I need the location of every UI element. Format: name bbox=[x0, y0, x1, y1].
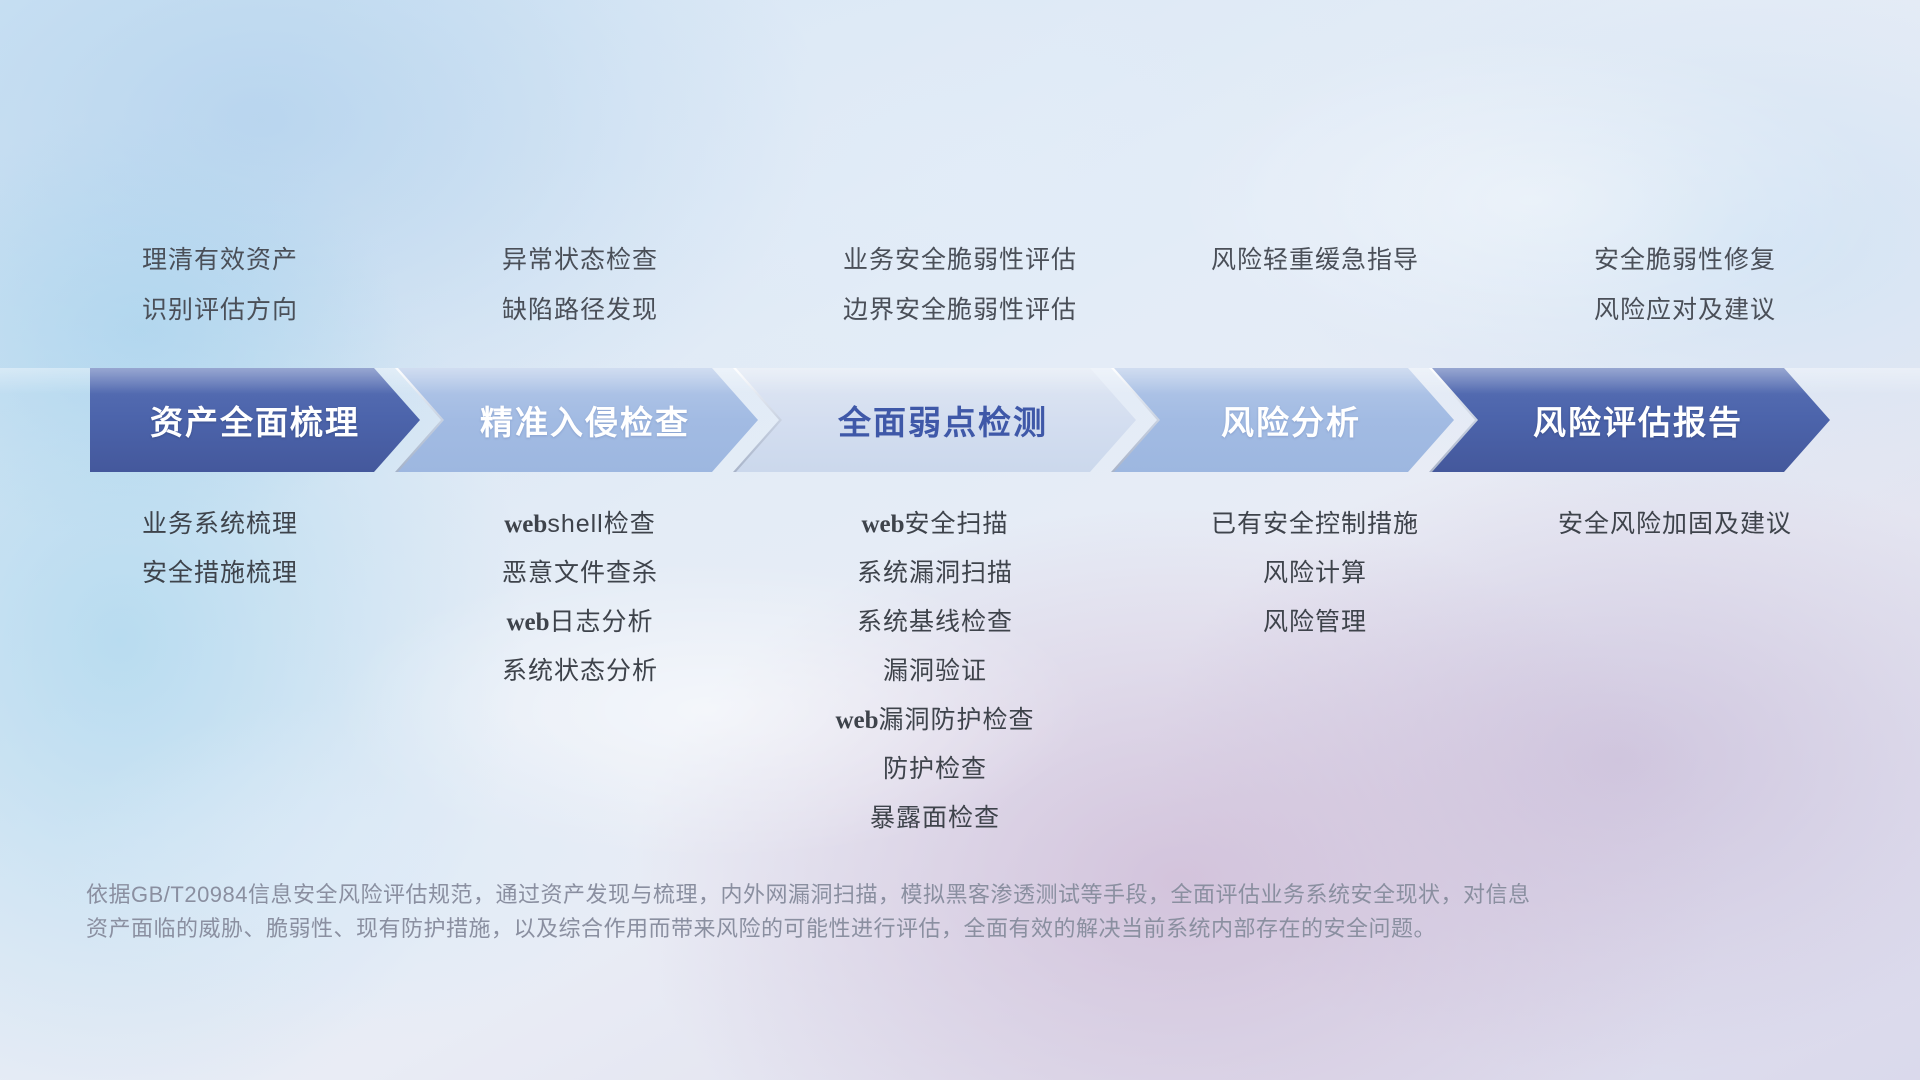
bottom-list-stage-3: web安全扫描 系统漏洞扫描 系统基线检查 漏洞验证 web漏洞防护检查 防护检… bbox=[755, 500, 1115, 843]
bottom-item: 恶意文件查杀 bbox=[390, 549, 770, 598]
stage-arrow-2[interactable]: 精准入侵检查 bbox=[398, 368, 758, 472]
top-item: 边界安全脆弱性评估 bbox=[750, 285, 1170, 335]
bottom-item: 系统状态分析 bbox=[390, 647, 770, 696]
bottom-item: web漏洞防护检查 bbox=[755, 696, 1115, 745]
stage-arrow-label: 精准入侵检查 bbox=[466, 396, 690, 444]
top-item: 风险应对及建议 bbox=[1475, 285, 1895, 335]
bottom-item-text: 日志分析 bbox=[550, 608, 654, 636]
bottom-item: 安全风险加固及建议 bbox=[1455, 500, 1895, 549]
top-list-stage-1: 理清有效资产 识别评估方向 bbox=[30, 235, 410, 335]
stage-arrow-label: 风险分析 bbox=[1207, 396, 1361, 444]
bottom-item: 业务系统梳理 bbox=[30, 500, 410, 549]
bottom-item: 安全措施梳理 bbox=[30, 549, 410, 598]
bottom-item: 漏洞验证 bbox=[755, 647, 1115, 696]
bottom-item: 系统基线检查 bbox=[755, 598, 1115, 647]
bottom-item: web日志分析 bbox=[390, 598, 770, 647]
top-item: 识别评估方向 bbox=[30, 285, 410, 335]
stage-arrow-label: 全面弱点检测 bbox=[824, 396, 1048, 444]
top-item: 理清有效资产 bbox=[30, 235, 410, 285]
bottom-item-text: 漏洞防护检查 bbox=[879, 706, 1035, 734]
stage-arrow-5[interactable]: 风险评估报告 bbox=[1432, 368, 1830, 472]
bottom-item: 风险管理 bbox=[1105, 598, 1525, 647]
top-item: 风险轻重缓急指导 bbox=[1105, 235, 1525, 285]
bottom-item: 暴露面检查 bbox=[755, 794, 1115, 843]
bottom-item: webshell检查 bbox=[390, 500, 770, 549]
bottom-item: 防护检查 bbox=[755, 745, 1115, 794]
top-item: 异常状态检查 bbox=[390, 235, 770, 285]
background-glow-bottom-left bbox=[60, 700, 680, 1040]
top-item: 缺陷路径发现 bbox=[390, 285, 770, 335]
footer-caption: 依据GB/T20984信息安全风险评估规范，通过资产发现与梳理，内外网漏洞扫描，… bbox=[86, 878, 1726, 946]
caption-line-2: 资产面临的威胁、脆弱性、现有防护措施，以及综合作用而带来风险的可能性进行评估，全… bbox=[86, 912, 1726, 946]
bottom-item: 系统漏洞扫描 bbox=[755, 549, 1115, 598]
top-item: 安全脆弱性修复 bbox=[1475, 235, 1895, 285]
stage-arrow-label: 资产全面梳理 bbox=[150, 396, 360, 444]
bottom-item: 风险计算 bbox=[1105, 549, 1525, 598]
caption-line-1: 依据GB/T20984信息安全风险评估规范，通过资产发现与梳理，内外网漏洞扫描，… bbox=[86, 878, 1726, 912]
infographic-canvas: 理清有效资产 识别评估方向 异常状态检查 缺陷路径发现 业务安全脆弱性评估 边界… bbox=[0, 0, 1920, 1080]
bottom-item-text: shell检查 bbox=[547, 510, 655, 538]
bottom-item: web安全扫描 bbox=[755, 500, 1115, 549]
top-list-stage-2: 异常状态检查 缺陷路径发现 bbox=[390, 235, 770, 335]
bottom-list-stage-1: 业务系统梳理 安全措施梳理 bbox=[30, 500, 410, 598]
bottom-list-stage-5: 安全风险加固及建议 bbox=[1455, 500, 1895, 549]
stage-arrow-1[interactable]: 资产全面梳理 bbox=[90, 368, 420, 472]
bottom-list-stage-2: webshell检查 恶意文件查杀 web日志分析 系统状态分析 bbox=[390, 500, 770, 696]
process-arrow-band: 资产全面梳理 精准入侵检查 全面弱点检测 风险分析 风险评估报告 bbox=[0, 368, 1920, 472]
stage-arrow-3[interactable]: 全面弱点检测 bbox=[736, 368, 1136, 472]
stage-arrow-label: 风险评估报告 bbox=[1519, 396, 1743, 444]
stage-arrow-4[interactable]: 风险分析 bbox=[1114, 368, 1454, 472]
top-list-stage-5: 安全脆弱性修复 风险应对及建议 bbox=[1475, 235, 1895, 335]
top-list-stage-4: 风险轻重缓急指导 bbox=[1105, 235, 1525, 285]
bottom-item-text: 安全扫描 bbox=[905, 510, 1009, 538]
